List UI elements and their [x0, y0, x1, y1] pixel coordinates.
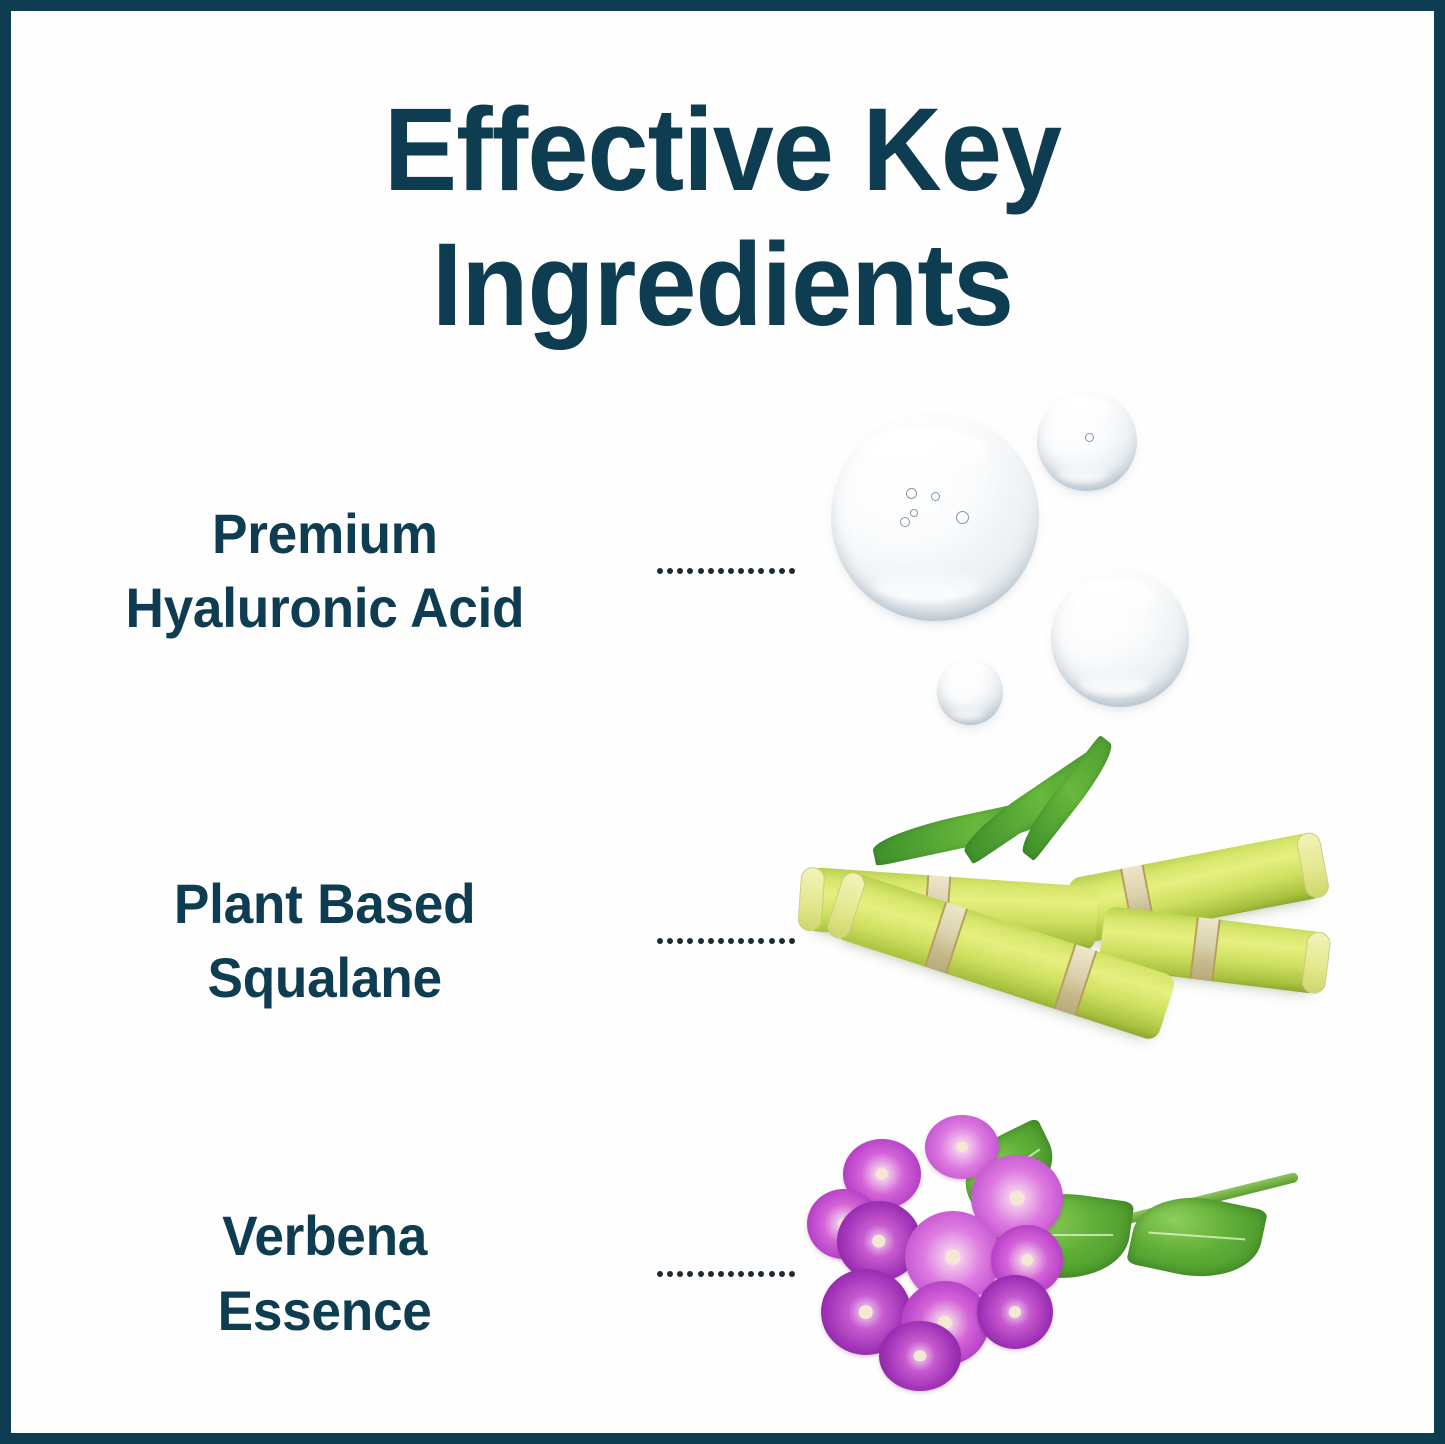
- dotted-leader-verbena: [651, 1270, 801, 1277]
- droplet-small: [937, 659, 1003, 725]
- card-inner: Effective Key Ingredients Premium Hyalur…: [11, 11, 1434, 1433]
- verbena-flower-icon: [801, 1101, 1434, 1433]
- verbena-flower-head: [807, 1115, 1087, 1395]
- dotted-leader-squalane: [651, 938, 801, 945]
- droplet-top-right: [1037, 391, 1137, 491]
- ingredient-label-verbena: Verbena Essence: [218, 1199, 432, 1348]
- verbena-leaf-right: [1126, 1185, 1268, 1290]
- droplet-right: [1051, 569, 1189, 707]
- water-droplets-icon: [801, 391, 1434, 751]
- ingredient-row-hyaluronic-acid: Premium Hyaluronic Acid: [11, 391, 1434, 751]
- ingredient-row-squalane: Plant Based Squalane: [11, 771, 1434, 1111]
- ingredient-label-column: Plant Based Squalane: [11, 867, 651, 1016]
- sugarcane-icon: [801, 771, 1434, 1111]
- dotted-leader-hyaluronic-acid: [651, 568, 801, 575]
- ingredient-label-squalane: Plant Based Squalane: [174, 867, 475, 1016]
- ingredient-art-column-verbena: [801, 1101, 1434, 1433]
- ingredient-art-column-squalane: [801, 771, 1434, 1111]
- droplet-large: [831, 413, 1039, 621]
- ingredient-label-hyaluronic-acid: Premium Hyaluronic Acid: [126, 497, 525, 646]
- page-title: Effective Key Ingredients: [61, 83, 1384, 352]
- ingredient-label-column: Premium Hyaluronic Acid: [11, 497, 651, 646]
- ingredient-art-column-hyaluronic-acid: [801, 391, 1434, 751]
- ingredients-infographic-card: Effective Key Ingredients Premium Hyalur…: [0, 0, 1445, 1444]
- ingredient-label-column: Verbena Essence: [11, 1199, 651, 1348]
- ingredient-row-verbena: Verbena Essence: [11, 1101, 1434, 1433]
